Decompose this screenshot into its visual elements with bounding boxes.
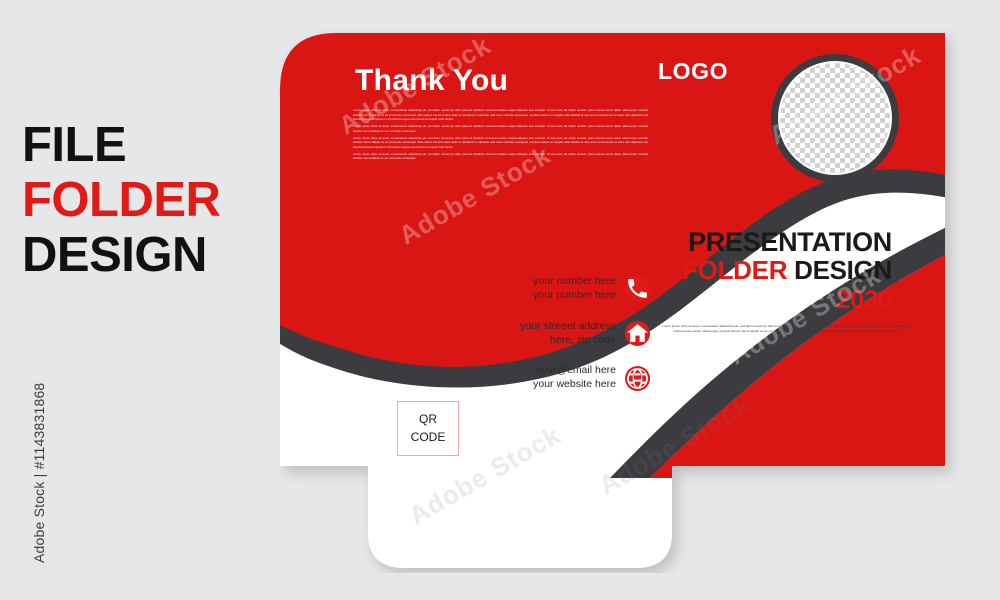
red-area-body-text: Lorem ipsum dolor sit amet, consectetuer… <box>353 108 648 163</box>
red-body-paragraph: Lorem ipsum dolor sit amet, consectetuer… <box>353 136 648 150</box>
contact-list: your number here your number here your s… <box>480 275 650 409</box>
qr-code-placeholder[interactable]: QR CODE <box>397 401 459 456</box>
title-year: 2030 <box>652 286 892 315</box>
white-area-body-text: Lorem ipsum dolor sit amet, consectetuer… <box>662 324 912 335</box>
contact-web-text: your@email here your website here <box>533 364 616 392</box>
contact-web-line2: your website here <box>533 378 616 392</box>
qr-label-line1: QR <box>419 411 437 428</box>
promo-headline: FILE FOLDER DESIGN <box>22 118 272 283</box>
photo-placeholder-circle <box>771 54 899 182</box>
screenshot-canvas: FILE FOLDER DESIGN Adobe Stock | #114383… <box>0 0 1000 600</box>
title-presentation: PRESENTATION <box>652 228 892 256</box>
contact-row-web[interactable]: your@email here your website here <box>480 364 650 392</box>
contact-address-text: your streeet address here, zip code <box>520 320 616 348</box>
promo-line-folder: FOLDER <box>22 173 272 228</box>
promo-line-design: DESIGN <box>22 228 272 283</box>
globe-icon <box>625 366 650 391</box>
qr-label-line2: CODE <box>411 429 446 446</box>
contact-phone-line2: your number here <box>533 289 616 303</box>
contact-phone-line1: your number here <box>533 275 616 289</box>
thank-you-heading: Thank You <box>355 64 508 98</box>
contact-address-line1: your streeet address <box>520 320 616 334</box>
red-body-paragraph: Lorem ipsum dolor sit amet, consectetuer… <box>353 108 648 122</box>
title-design: DESIGN <box>787 255 892 285</box>
red-body-paragraph: Lorem ipsum dolor sit amet, consectetuer… <box>353 124 648 133</box>
contact-phone-text: your number here your number here <box>533 275 616 303</box>
red-body-paragraph: Lorem ipsum dolor sit amet, consectetuer… <box>353 152 648 161</box>
contact-address-line2: here, zip code <box>520 334 616 348</box>
adobe-stock-credit: Adobe Stock | #1143831868 <box>31 313 47 563</box>
presentation-title-block: PRESENTATION FOLDER DESIGN 2030 <box>652 228 892 315</box>
contact-web-line1: your@email here <box>533 364 616 378</box>
logo-text: LOGO <box>658 58 728 85</box>
title-folder-design: FOLDER DESIGN <box>652 256 892 286</box>
folder-design-artwork: Thank You LOGO Lorem ipsum dolor sit ame… <box>280 28 960 573</box>
title-folder: FOLDER <box>682 255 787 285</box>
promo-line-file: FILE <box>22 118 272 173</box>
